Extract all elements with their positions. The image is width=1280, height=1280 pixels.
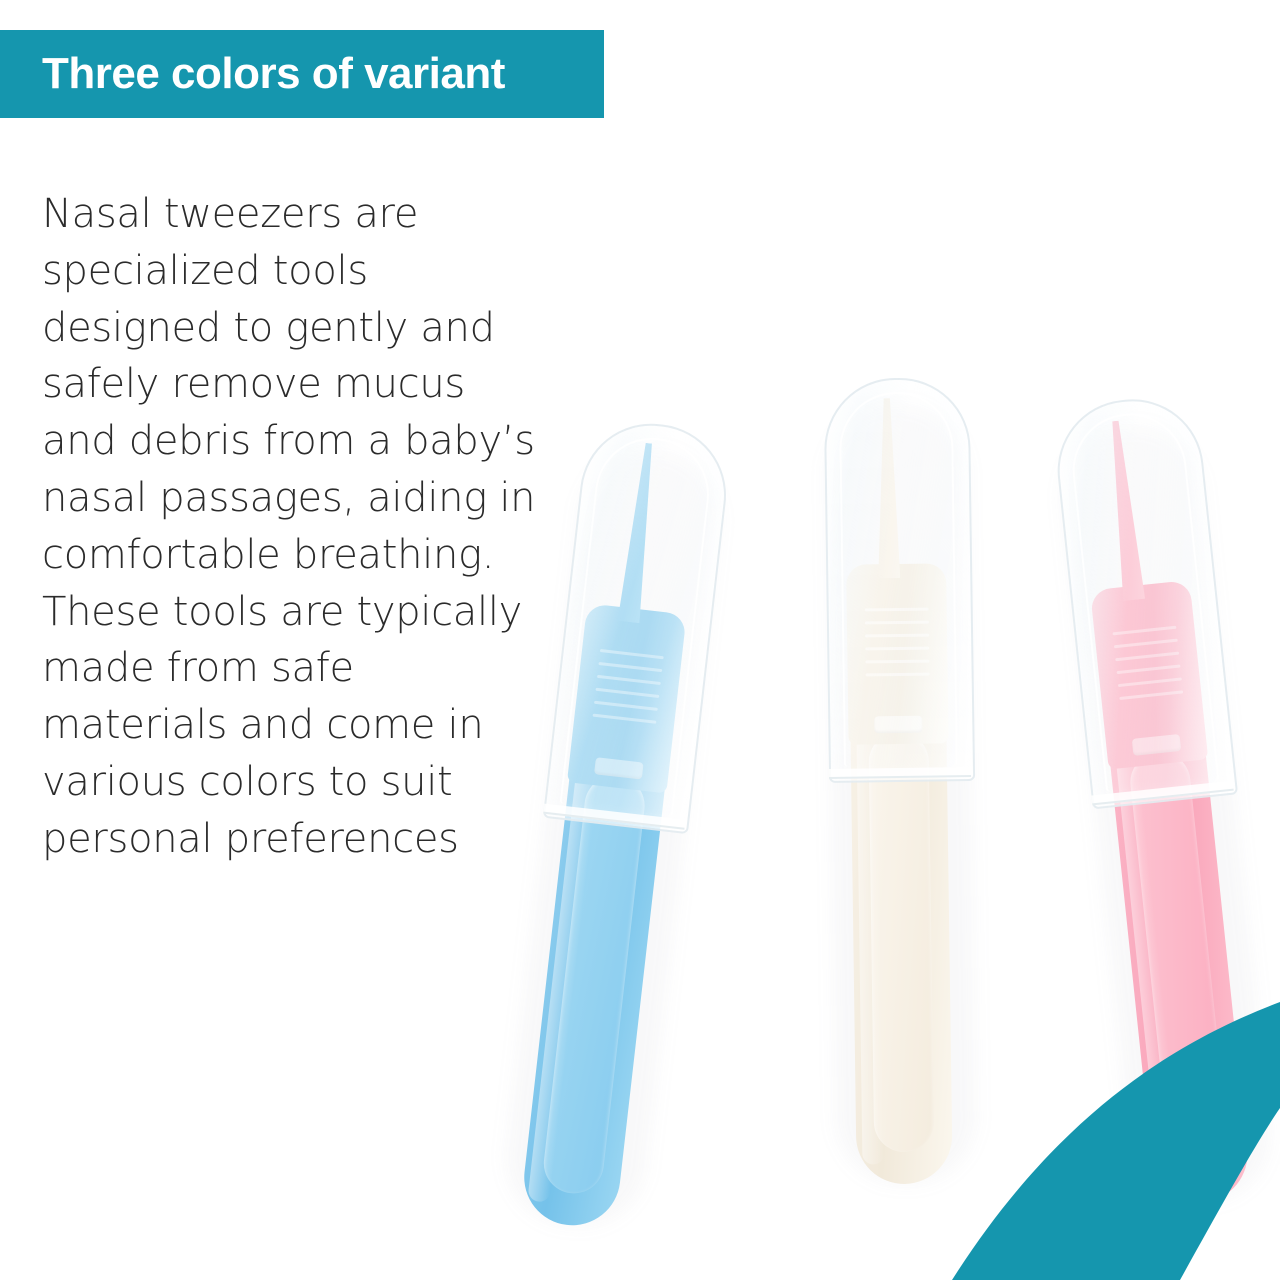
description-paragraph: Nasal tweezers are specialized tools des… — [42, 186, 542, 868]
cap-inner-rim — [839, 391, 958, 767]
cap-inner-rim — [559, 432, 715, 817]
header-banner: Three colors of variant — [0, 30, 604, 118]
promo-graphic: Three colors of variant Nasal tweezers a… — [0, 0, 1280, 1280]
cap-bottom-edge — [829, 767, 971, 779]
blue-tweezer — [492, 402, 735, 1244]
pink-tweezer-cap — [1051, 392, 1238, 809]
cream-tweezer-cap — [824, 377, 976, 783]
product-image — [520, 340, 1280, 1240]
page-title: Three colors of variant — [0, 52, 505, 96]
cream-tweezer — [819, 363, 981, 1195]
cap-inner-rim — [1067, 408, 1219, 792]
pink-tweezer — [1045, 378, 1280, 1219]
blue-tweezer-cap — [543, 416, 734, 834]
